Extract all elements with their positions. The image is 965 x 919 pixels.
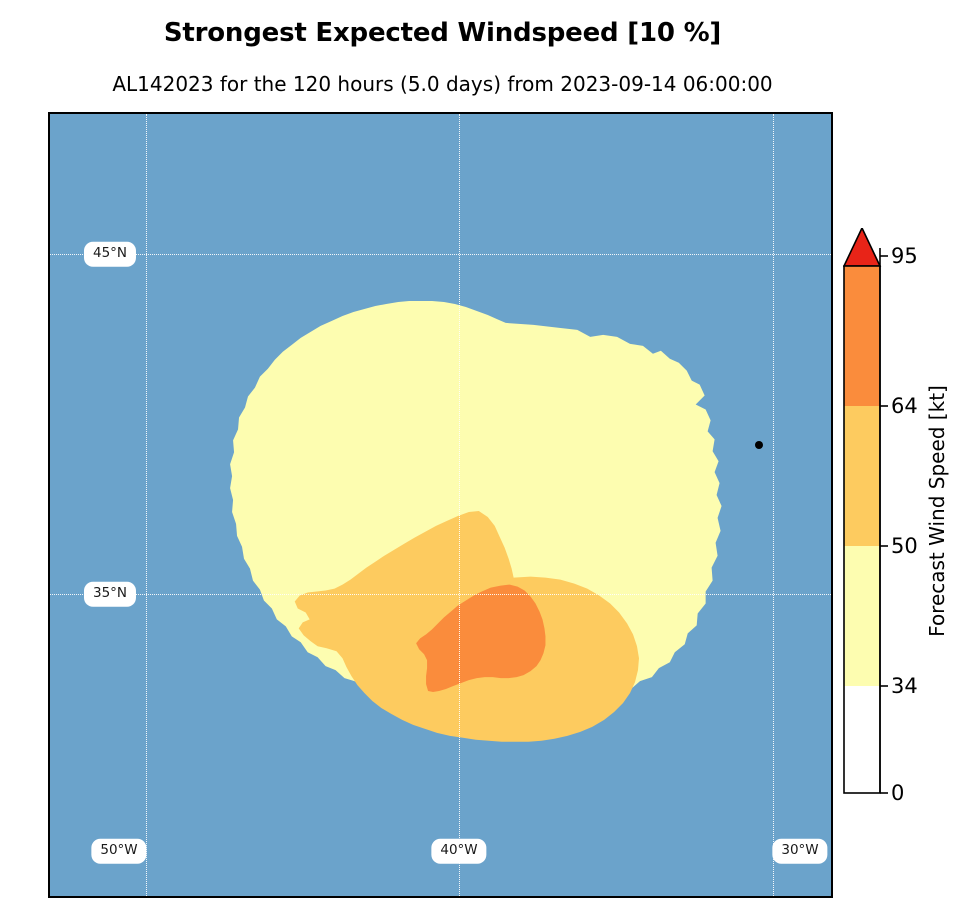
- colorbar-band-34-50: [844, 546, 880, 686]
- colorbar-band-64-95: [844, 266, 880, 406]
- colorbar-gradient: [843, 228, 913, 794]
- gridline-lon-40w: [459, 114, 460, 896]
- grid-label-lon-30w: 30°W: [772, 839, 827, 864]
- colorbar-tick-label-64: 64: [891, 394, 918, 418]
- colorbar[interactable]: 95 64 50 34 0 Forecast Wind Speed [kt]: [843, 228, 963, 794]
- grid-label-lat-35n: 35°N: [84, 582, 136, 607]
- gridline-lon-30w: [773, 114, 774, 896]
- colorbar-axis-title: Forecast Wind Speed [kt]: [925, 385, 949, 637]
- colorbar-band-50-64: [844, 406, 880, 546]
- colorbar-tick-label-34: 34: [891, 674, 918, 698]
- colorbar-extend-arrow: [844, 228, 880, 266]
- gridline-lat-35n: [50, 594, 831, 595]
- colorbar-tick-label-50: 50: [891, 534, 918, 558]
- colorbar-axis-title-wrap: Forecast Wind Speed [kt]: [917, 228, 957, 794]
- page-subtitle: AL142023 for the 120 hours (5.0 days) fr…: [0, 72, 885, 96]
- grid-label-lon-50w: 50°W: [91, 839, 146, 864]
- gridline-lon-50w: [146, 114, 147, 896]
- grid-label-lon-40w: 40°W: [431, 839, 486, 864]
- colorbar-tick-label-0: 0: [891, 781, 904, 805]
- colorbar-band-0-34: [844, 686, 880, 793]
- gridline-lat-45n: [50, 254, 831, 255]
- grid-label-lat-45n: 45°N: [84, 242, 136, 267]
- storm-centre-marker: [755, 441, 763, 449]
- map-axes[interactable]: 45°N 35°N 50°W 40°W 30°W: [48, 112, 833, 898]
- page-title: Strongest Expected Windspeed [10 %]: [0, 18, 885, 48]
- wind-speed-contour-field: [50, 114, 831, 896]
- colorbar-tick-label-95: 95: [891, 244, 918, 268]
